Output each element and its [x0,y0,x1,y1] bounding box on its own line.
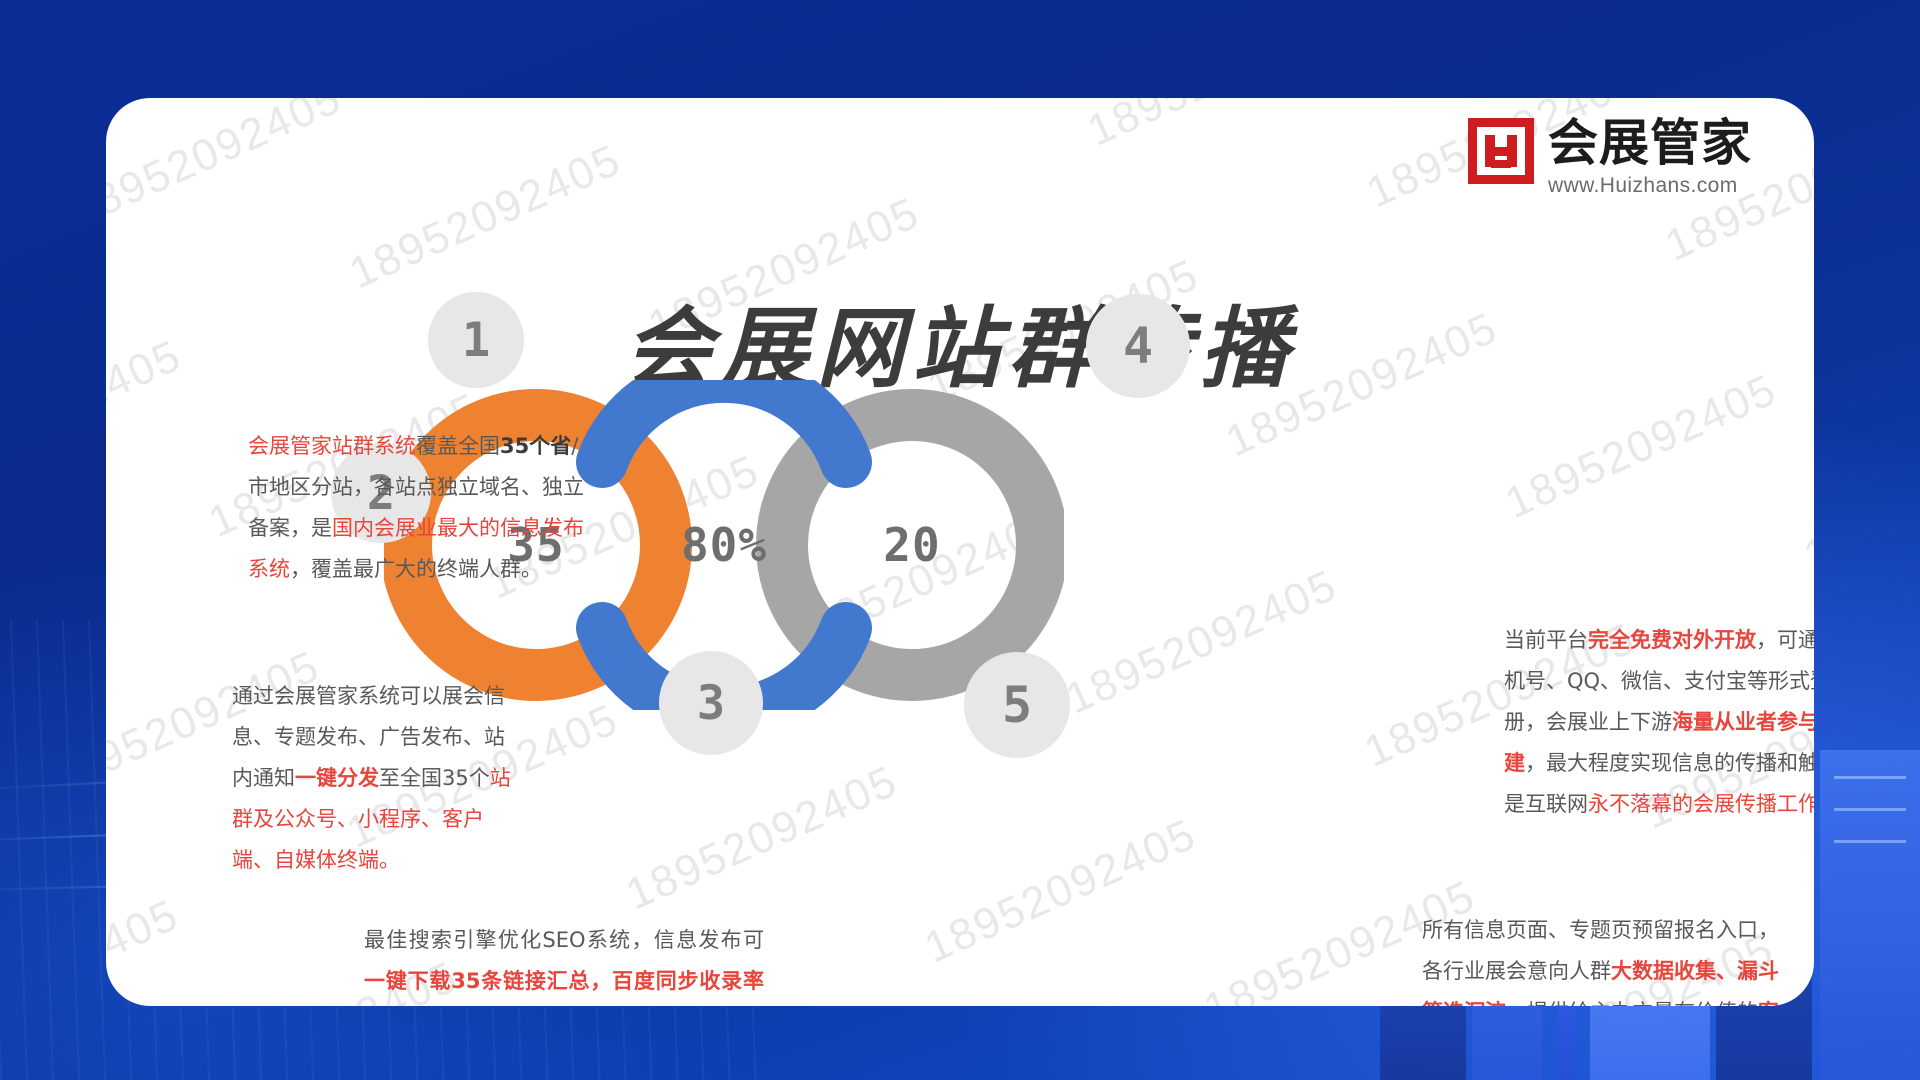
badge-4: 4 [1086,294,1190,398]
text-run: 35个省 [500,434,571,458]
building [1820,750,1920,1080]
badge-1: 1 [428,292,524,388]
ring-value-blue: 80% [681,518,767,572]
infographic-poster: 1895209240518952092405189520924051895209… [0,0,1920,1080]
text-run: 会展管家站群系统 [248,434,416,458]
text-run: 一键分发 [295,766,379,790]
text-run: 覆盖全国 [416,434,500,458]
text-run: 最佳搜索引擎优化SEO系统，信息发布可 [364,928,764,952]
text-run: 当前平台 [1504,628,1588,652]
text-run: 至全国35个 [379,766,490,790]
brand-name-cn: 会展管家 [1548,118,1752,168]
text-run: 永不落幕的会展传播工作站 [1588,792,1814,816]
text-run: 完全免费对外开放 [1588,628,1756,652]
text-block-4: 当前平台完全免费对外开放，可通过手机号、QQ、微信、支付宝等形式登录注册，会展业… [1504,620,1814,825]
brand-website-url: www.Huizhans.com [1548,175,1752,196]
badge-5: 5 [964,652,1070,758]
brand-logo: 会展管家 www.Huizhans.com [1468,118,1752,196]
text-block-1: 会展管家站群系统覆盖全国35个省/市地区分站，各站点独立域名、独立备案，是国内会… [248,426,584,590]
text-run: ，覆盖最广大的终端人群。 [290,557,542,581]
brand-logo-text: 会展管家 www.Huizhans.com [1548,118,1752,196]
huizhans-logo-icon [1468,118,1534,184]
text-block-5: 所有信息页面、专题页预留报名入口，各行业展会意向人群大数据收集、漏斗筛选沉淀，提… [1422,910,1782,1006]
ring-value-gray: 20 [883,518,940,572]
text-run: ，提供给主办方最有价值的 [1506,1000,1758,1006]
badge-3: 3 [659,651,763,755]
text-block-2: 通过会展管家系统可以展会信息、专题发布、广告发布、站内通知一键分发至全国35个站… [232,676,522,881]
text-run: 一键下载35条链接汇总，百度同步收录率80%以上， [364,969,764,1006]
content-card: 1895209240518952092405189520924051895209… [106,98,1814,1006]
text-block-3: 最佳搜索引擎优化SEO系统，信息发布可一键下载35条链接汇总，百度同步收录率80… [364,920,764,1006]
